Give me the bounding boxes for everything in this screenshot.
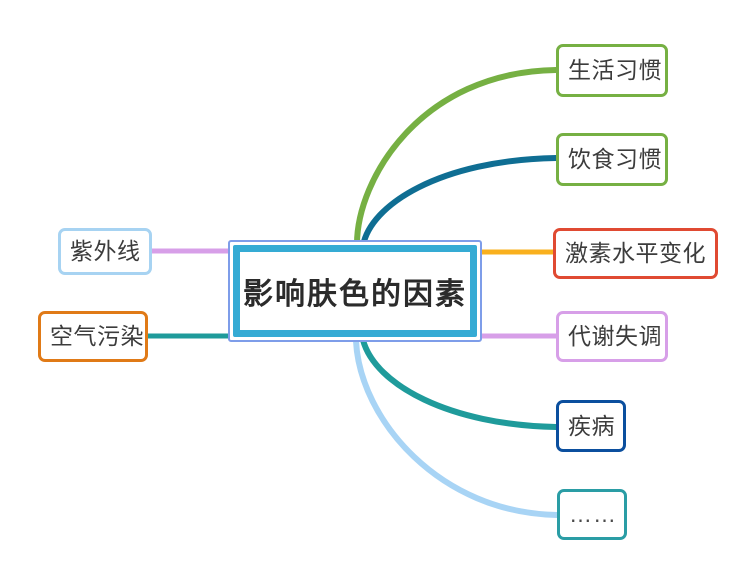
branch-label-ultraviolet: 紫外线: [61, 240, 150, 263]
edge-diet-habits: [363, 158, 556, 246]
central-topic-label: 影响肤色的因素: [243, 269, 467, 313]
edge-ellipsis: [356, 341, 557, 515]
branch-label-ellipsis: ……: [560, 503, 626, 526]
branch-node-ellipsis[interactable]: ……: [557, 489, 627, 540]
branch-label-diet-habits: 饮食习惯: [559, 148, 671, 171]
mindmap-canvas: 影响肤色的因素 生活习惯 饮食习惯 激素水平变化 代谢失调 疾病 …… 紫外线 …: [0, 0, 749, 578]
edge-disease: [363, 340, 556, 427]
branch-node-air-pollution[interactable]: 空气污染: [38, 311, 148, 362]
central-topic-node[interactable]: 影响肤色的因素: [228, 240, 482, 342]
branch-label-disease: 疾病: [559, 415, 624, 438]
branch-node-diet-habits[interactable]: 饮食习惯: [556, 133, 668, 186]
branch-node-metabolic-disorder[interactable]: 代谢失调: [556, 311, 668, 362]
edge-life-habits: [357, 70, 556, 244]
branch-label-air-pollution: 空气污染: [41, 325, 153, 348]
central-topic-inner-frame: 影响肤色的因素: [233, 245, 477, 337]
branch-label-hormone-change: 激素水平变化: [556, 242, 715, 265]
branch-node-disease[interactable]: 疾病: [556, 400, 626, 452]
branch-node-ultraviolet[interactable]: 紫外线: [58, 228, 152, 275]
branch-node-life-habits[interactable]: 生活习惯: [556, 44, 668, 97]
branch-label-life-habits: 生活习惯: [559, 59, 671, 82]
branch-node-hormone-change[interactable]: 激素水平变化: [553, 228, 718, 279]
branch-label-metabolic-disorder: 代谢失调: [559, 325, 671, 348]
